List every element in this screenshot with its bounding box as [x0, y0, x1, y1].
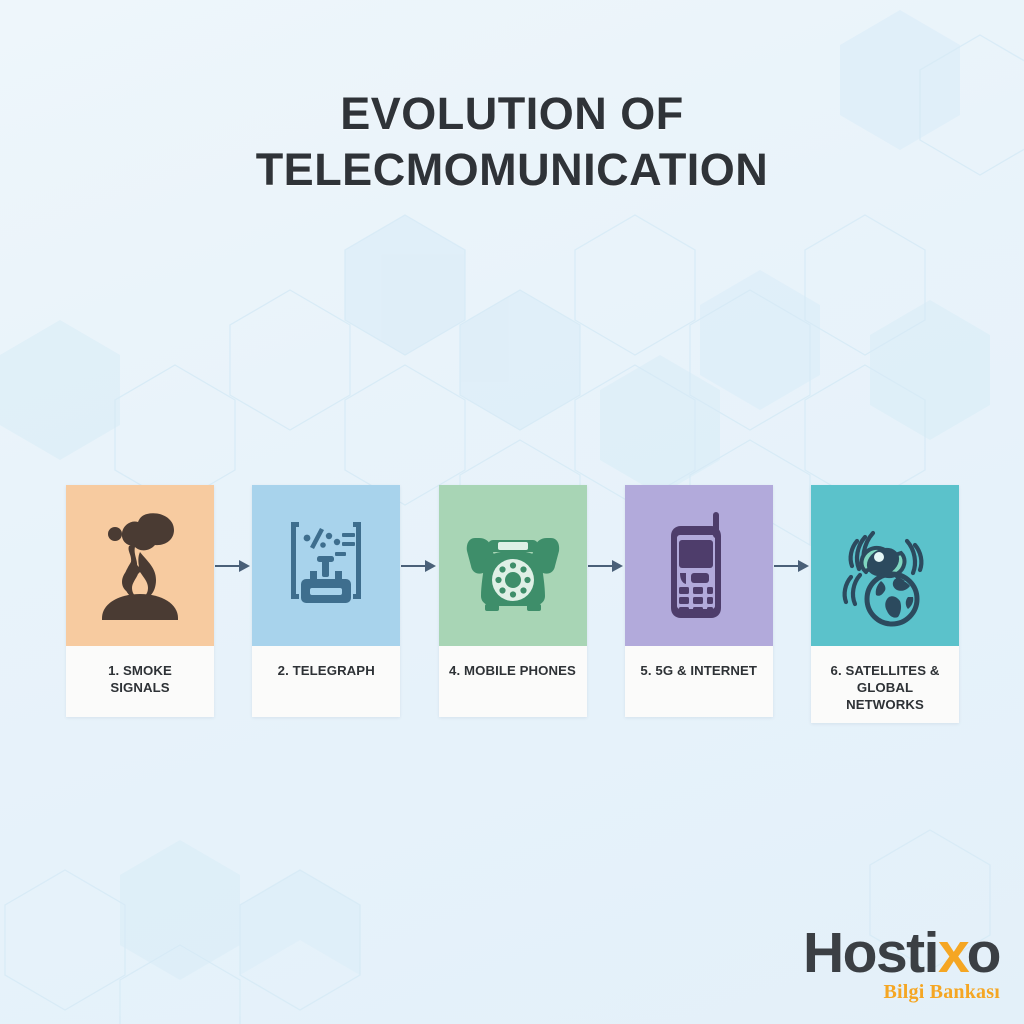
card-label-5-line1: 6. SATELLITES &	[831, 663, 940, 678]
telegraph-key-icon	[279, 516, 373, 616]
card-label-2: 2. TELEGRAPH	[252, 646, 400, 717]
timeline-row: 1. SMOKE SIGNALS	[66, 485, 959, 717]
rotary-telephone-icon	[461, 518, 565, 614]
card-icon-tile-2	[252, 485, 400, 646]
card-label-5: 6. SATELLITES & GLOBAL NETWORKS	[811, 646, 959, 723]
card-label-1-line1: 1. SMOKE	[108, 663, 172, 678]
brand-logo: Hostixo Bilgi Bankası	[784, 924, 1000, 1004]
arrow-2-to-3	[400, 485, 438, 646]
timeline-card-satellites[interactable]: 6. SATELLITES & GLOBAL NETWORKS	[811, 485, 959, 723]
title-line-1: EVOLUTION OF	[60, 86, 964, 142]
logo-wordmark-part1: Hosti	[803, 921, 938, 985]
timeline-card-mobile-phones[interactable]: 4. MOBILE PHONES	[439, 485, 587, 717]
page-title: EVOLUTION OF TELECMOMUNICATION	[0, 86, 1024, 198]
logo-x-mark: x	[938, 921, 967, 985]
timeline-card-telegraph[interactable]: 2. TELEGRAPH	[252, 485, 400, 717]
infographic-canvas: EVOLUTION OF TELECMOMUNICATION	[0, 0, 1024, 1024]
card-label-5-line2: GLOBAL NETWORKS	[846, 680, 924, 712]
logo-wordmark-part2: o	[967, 921, 1000, 985]
timeline-card-smoke-signals[interactable]: 1. SMOKE SIGNALS	[66, 485, 214, 717]
card-label-1-line2: SIGNALS	[110, 680, 169, 695]
card-label-1: 1. SMOKE SIGNALS	[66, 646, 214, 717]
card-label-4: 5. 5G & INTERNET	[625, 646, 773, 717]
timeline-card-5g-internet[interactable]: 5. 5G & INTERNET	[625, 485, 773, 717]
card-label-4-line1: 5. 5G & INTERNET	[640, 663, 757, 678]
campfire-smoke-icon	[92, 506, 188, 626]
mobile-phone-icon	[667, 510, 731, 622]
satellite-globe-icon	[829, 505, 941, 627]
arrow-3-to-4	[587, 485, 625, 646]
card-icon-tile-5	[811, 485, 959, 646]
card-icon-tile-4	[625, 485, 773, 646]
card-label-2-line1: 2. TELEGRAPH	[278, 663, 375, 678]
card-label-3: 4. MOBILE PHONES	[439, 646, 587, 717]
card-label-3-line1: 4. MOBILE PHONES	[449, 663, 576, 678]
arrow-1-to-2	[214, 485, 252, 646]
title-line-2: TELECMOMUNICATION	[60, 142, 964, 198]
card-icon-tile-3	[439, 485, 587, 646]
card-icon-tile-1	[66, 485, 214, 646]
arrow-4-to-5	[773, 485, 811, 646]
logo-wordmark: Hostixo	[784, 924, 1000, 982]
